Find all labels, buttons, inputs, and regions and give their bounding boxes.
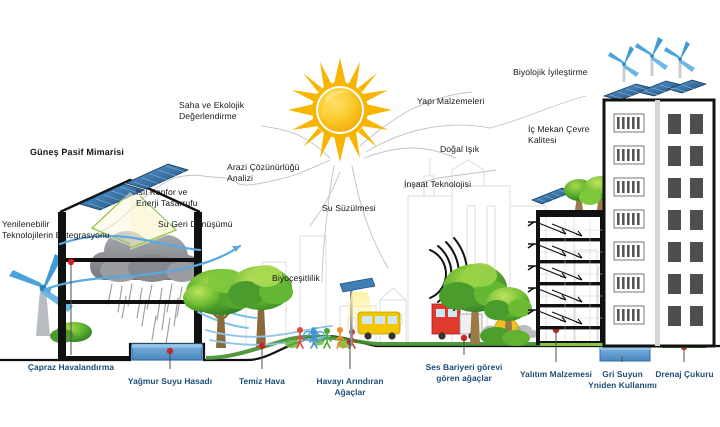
concept-label: Yenilenebilir Teknolojilerin Entegrasyon… [2,219,154,242]
bus-icon [358,312,400,340]
callout-label-havayi-arindiran-agaclar: Havayı Arındıran Ağaçlar [295,376,405,397]
concept-label: Yapı Malzemeleri [417,96,519,107]
greywater-tank [600,347,650,361]
concept-label: Isıl Konfor ve Enerji Tasarrufu [136,187,248,210]
callout-label-drenaj-cukuru: Drenaj Çukuru [637,369,720,380]
concept-label: Su Süzülmesi [322,203,414,214]
concept-label: Biyolojik İyileştirme [513,67,625,78]
infographic-canvas: Güneş Pasif Mimarisi Yenilenebilir Tekno… [0,0,720,427]
sun-icon [288,58,392,162]
callout-label-yagmur-suyu-hasadi: Yağmur Suyu Hasadı [115,376,225,387]
solar-panel-array [604,80,706,100]
concept-label: Saha ve Ekolojik Değerlendirme [179,100,291,123]
concept-label: Güneş Pasif Mimarisi [30,147,154,158]
concept-label: Doğal Işık [440,144,512,155]
concept-label: Arazi Çözünürlüğü Analizi [227,162,339,185]
concept-label: İnşaat Teknolojisi [404,179,506,190]
apartment-tower [604,37,714,346]
callout-label-temiz-hava: Temiz Hava [217,376,307,387]
wind-turbine-icon [9,254,92,343]
concept-label: Su Geri Dönüşümü [158,219,270,230]
callout-label-capraz-havalandirma: Çapraz Havalandırma [16,362,126,373]
concept-label: İç Mekan Çevre Kalitesi [528,124,630,147]
concept-label: Biyoçeşitlilik [272,273,354,284]
